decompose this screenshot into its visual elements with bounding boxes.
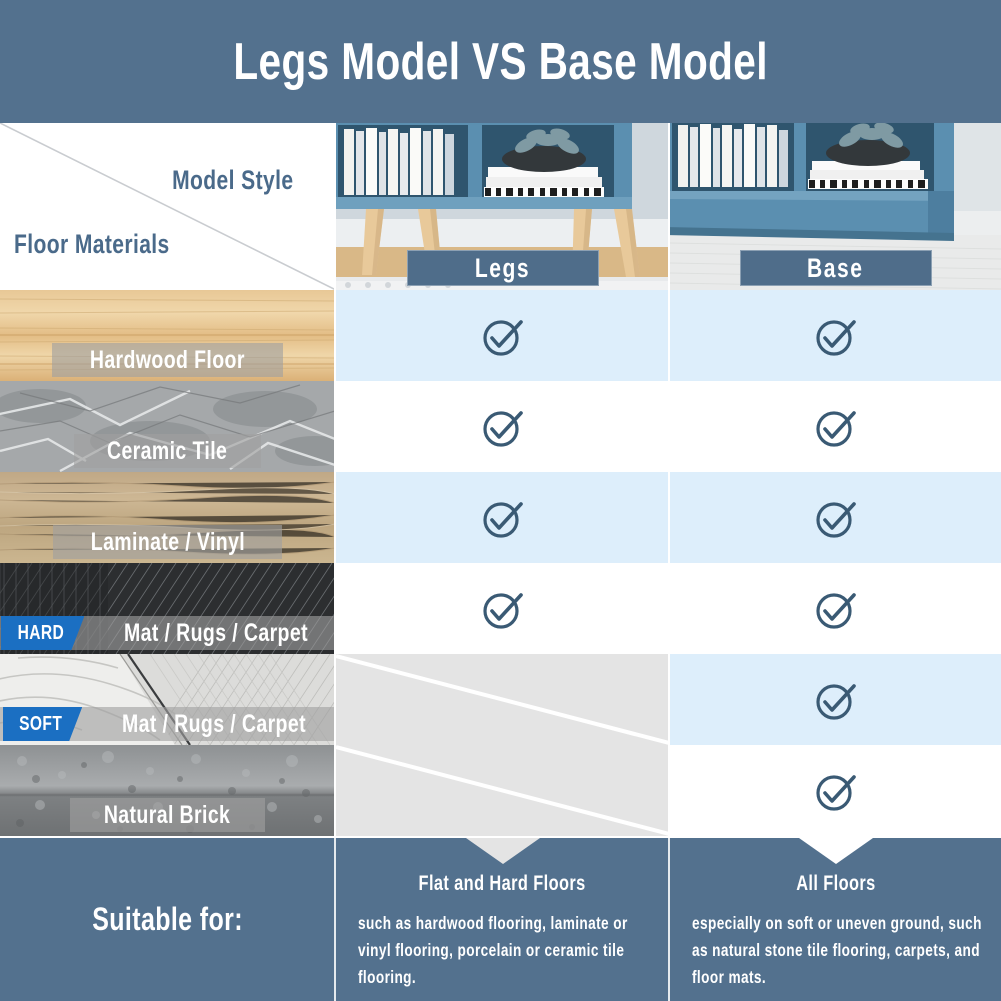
cell-base-laminate (670, 472, 1001, 563)
check-circle-icon (478, 584, 528, 634)
cell-body (670, 290, 1001, 381)
cell-legs-laminate (336, 472, 669, 563)
base-photo-cell: Base (670, 123, 1001, 290)
cell-body (670, 563, 1001, 654)
row-label-wrap: HARD Mat / Rugs / Carpet (0, 616, 335, 650)
corner-header-cell: Model Style Floor Materials (0, 123, 335, 290)
cell-body (336, 472, 669, 563)
row-label-plate: SOFT Mat / Rugs / Carpet (0, 707, 348, 741)
cell-body (336, 381, 669, 472)
footer-base-line3: floor mats. (692, 964, 916, 991)
comparison-chart: Legs Model VS Base Model Model Style Flo… (0, 0, 1001, 1001)
column-divider-1 (334, 123, 336, 838)
corner-diagonal-icon (0, 123, 335, 290)
corner-top-label: Model Style (155, 165, 311, 196)
diagonal-slash-icon (336, 745, 669, 836)
cell-body (670, 745, 1001, 836)
down-arrow-notch-icon (466, 838, 540, 864)
column-divider-2 (668, 123, 670, 838)
check-circle-icon (811, 584, 861, 634)
base-column-banner: Base (740, 250, 932, 286)
footer-base-heading: All Floors (670, 872, 1001, 896)
row-label-wrap: SOFT Mat / Rugs / Carpet (0, 707, 335, 741)
check-circle-icon (811, 311, 861, 361)
check-circle-icon (478, 493, 528, 543)
check-circle-icon (811, 766, 861, 816)
footer-base-cell: All Floors especially on soft or uneven … (670, 838, 1001, 1001)
cell-base-soft-carpet (670, 654, 1001, 745)
row-label-text: Laminate / Vinyl (90, 528, 244, 557)
row-label-ceramic-tile: Ceramic Tile (0, 381, 335, 472)
footer-divider-2 (668, 838, 670, 1001)
row-label-text: Mat / Rugs / Carpet (122, 710, 306, 739)
row-label-text: Ceramic Tile (107, 437, 227, 466)
footer-legs-line1: such as hardwood flooring, laminate or (358, 910, 583, 937)
row-label-plate: Laminate / Vinyl (53, 525, 283, 559)
base-column-label: Base (807, 253, 864, 284)
footer-legs-cell: Flat and Hard Floors such as hardwood fl… (336, 838, 669, 1001)
cell-body (336, 290, 669, 381)
row-label-hard-mat-rugs-carpet: HARD Mat / Rugs / Carpet (0, 563, 335, 654)
footer-base-line1: especially on soft or uneven ground, suc… (692, 910, 916, 937)
cell-base-brick (670, 745, 1001, 836)
cell-body (670, 472, 1001, 563)
check-circle-icon (811, 402, 861, 452)
row-label-wrap: Hardwood Floor (0, 343, 335, 377)
hard-badge: HARD (1, 616, 85, 650)
corner-bottom-label: Floor Materials (14, 229, 214, 260)
page-title: Legs Model VS Base Model (158, 34, 843, 90)
footer-left-cell: Suitable for: (0, 838, 335, 1001)
cell-body (670, 654, 1001, 745)
cell-body (336, 654, 669, 745)
suitable-for-label: Suitable for: (92, 901, 243, 938)
row-label-natural-brick: Natural Brick (0, 745, 335, 836)
floor-materials-column: Model Style Floor Materials (0, 123, 335, 838)
check-circle-icon (811, 493, 861, 543)
soft-badge-text: SOFT (19, 713, 62, 736)
cell-base-hard-carpet (670, 563, 1001, 654)
cell-body (670, 381, 1001, 472)
footer-legs-body: such as hardwood flooring, laminate or v… (358, 910, 647, 991)
title-bar: Legs Model VS Base Model (0, 0, 1001, 123)
row-label-text: Natural Brick (104, 801, 230, 830)
row-label-wrap: Ceramic Tile (0, 434, 335, 468)
row-label-text: Hardwood Floor (90, 346, 245, 375)
legs-column: Legs (336, 123, 669, 838)
row-label-plate: Natural Brick (70, 798, 264, 832)
cell-base-hardwood (670, 290, 1001, 381)
row-label-plate: Hardwood Floor (52, 343, 283, 377)
legs-photo-cell: Legs (336, 123, 669, 290)
legs-column-label: Legs (475, 253, 530, 284)
page-title-text: Legs Model VS Base Model (233, 34, 768, 90)
check-circle-icon (811, 675, 861, 725)
row-label-plate: Ceramic Tile (74, 434, 260, 468)
legs-column-banner: Legs (407, 250, 599, 286)
footer-base-body: especially on soft or uneven ground, suc… (692, 910, 979, 991)
base-column: Base (670, 123, 1001, 838)
footer-suitable-for: Suitable for: Flat and Hard Floors such … (0, 838, 1001, 1001)
row-label-hardwood-floor: Hardwood Floor (0, 290, 335, 381)
row-label-plate: HARD Mat / Rugs / Carpet (0, 616, 350, 650)
cell-legs-hardwood (336, 290, 669, 381)
cell-base-ceramic (670, 381, 1001, 472)
footer-legs-line2: vinyl flooring, porcelain or ceramic til… (358, 937, 583, 964)
footer-legs-heading: Flat and Hard Floors (336, 872, 669, 896)
cell-legs-brick (336, 745, 669, 836)
cell-body (336, 745, 669, 836)
down-arrow-notch-icon (799, 838, 873, 864)
hard-badge-text: HARD (17, 622, 64, 645)
cell-legs-hard-carpet (336, 563, 669, 654)
row-label-wrap: Natural Brick (0, 798, 335, 832)
check-circle-icon (478, 311, 528, 361)
footer-base-line2: as natural stone tile flooring, carpets,… (692, 937, 916, 964)
row-label-soft-mat-rugs-carpet: SOFT Mat / Rugs / Carpet (0, 654, 335, 745)
footer-legs-line3: flooring. (358, 964, 583, 991)
row-label-text: Mat / Rugs / Carpet (124, 619, 308, 648)
row-label-wrap: Laminate / Vinyl (0, 525, 335, 559)
check-circle-icon (478, 402, 528, 452)
cell-legs-ceramic (336, 381, 669, 472)
footer-divider-1 (334, 838, 336, 1001)
cell-body (336, 563, 669, 654)
cell-legs-soft-carpet (336, 654, 669, 745)
diagonal-slash-icon (336, 654, 669, 745)
soft-badge: SOFT (3, 707, 82, 741)
row-label-laminate-vinyl: Laminate / Vinyl (0, 472, 335, 563)
comparison-table: Model Style Floor Materials (0, 123, 1001, 838)
